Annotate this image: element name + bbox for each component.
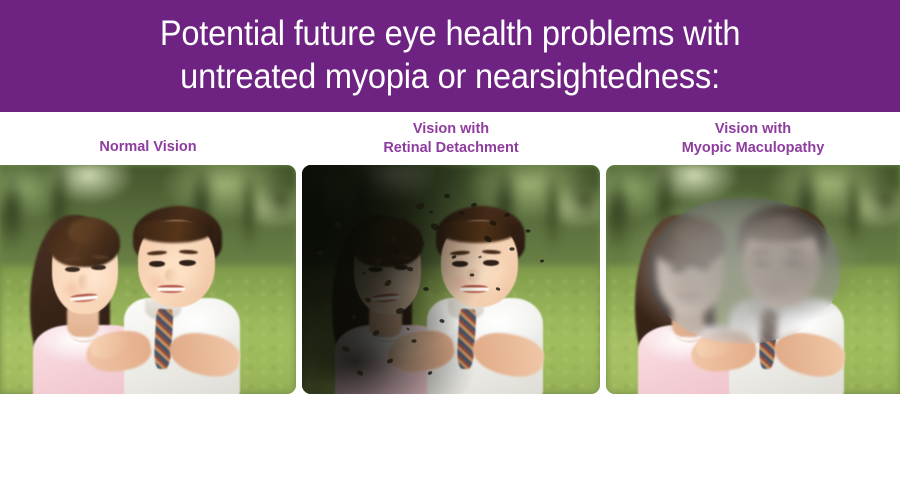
- photo-mother-and-child-detachment: [302, 165, 600, 394]
- panel-caption-normal-vision: Normal Vision: [0, 138, 296, 157]
- photo-mother-and-child: [0, 165, 296, 394]
- panel-retinal-detachment: [302, 165, 600, 394]
- child-hair-fringe: [136, 220, 213, 243]
- footer-whitespace: [0, 402, 900, 500]
- child-hair-fringe: [741, 220, 817, 243]
- photo-mother-and-child-maculopathy: [606, 165, 900, 394]
- infographic-root: Potential future eye health problems wit…: [0, 0, 900, 500]
- panel-myopic-maculopathy: [606, 165, 900, 394]
- panel-normal-vision: [0, 165, 296, 394]
- mother-hair-highlight: [371, 219, 407, 244]
- child-hair-fringe: [439, 220, 516, 243]
- panel-caption-retinal-detachment: Vision with Retinal Detachment: [302, 120, 600, 157]
- page-title: Potential future eye health problems wit…: [147, 13, 753, 98]
- mother-hair-highlight: [674, 219, 709, 244]
- panel-caption-myopic-maculopathy: Vision with Myopic Maculopathy: [606, 120, 900, 157]
- header-banner: Potential future eye health problems wit…: [0, 0, 900, 112]
- mother-nose: [684, 275, 695, 289]
- mother-hair-highlight: [68, 219, 104, 244]
- child-nose: [165, 269, 178, 282]
- vision-comparison-strip: Normal Vision Vision with Retinal Detach…: [0, 112, 900, 402]
- child-nose: [468, 269, 481, 282]
